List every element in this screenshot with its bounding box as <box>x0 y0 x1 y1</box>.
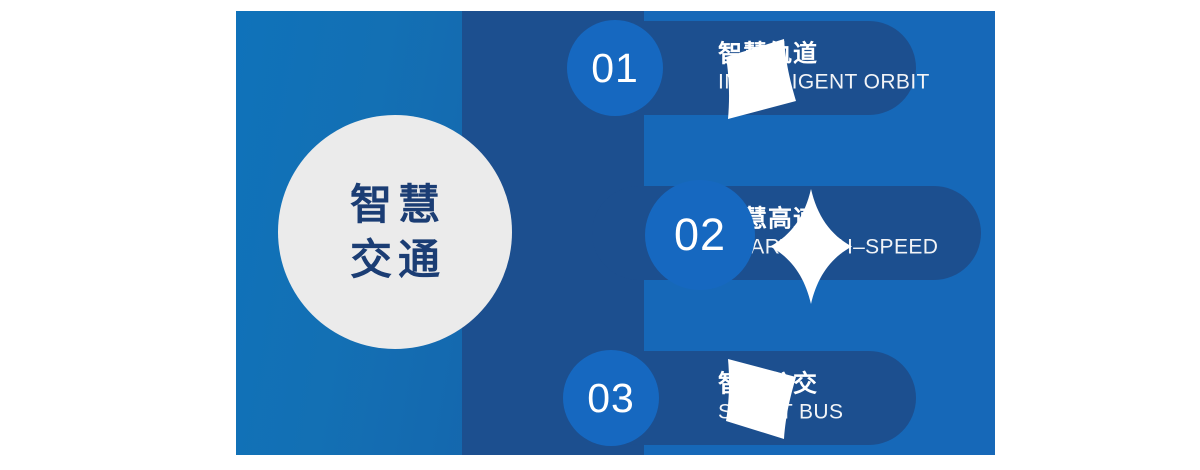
core-circle: 智慧 交通 <box>278 115 512 349</box>
row-title-01: 智慧轨道 <box>718 40 930 68</box>
row-title-03: 智慧公交 <box>718 370 843 398</box>
number-badge-01[interactable]: 01 <box>567 20 663 116</box>
row-text-03: 智慧公交 SMART BUS <box>718 370 843 425</box>
infographic-canvas: 智慧轨道 INTELLIGENT ORBIT 智慧高速 SMART HIGH–S… <box>0 0 1200 470</box>
number-badge-03[interactable]: 03 <box>563 350 659 446</box>
row-text-01: 智慧轨道 INTELLIGENT ORBIT <box>718 40 930 95</box>
core-title-line-2: 交通 <box>344 232 446 287</box>
number-badge-02[interactable]: 02 <box>645 180 755 290</box>
row-subtitle-01: INTELLIGENT ORBIT <box>718 71 930 96</box>
row-subtitle-03: SMART BUS <box>718 401 843 426</box>
core-title-line-1: 智慧 <box>344 177 446 232</box>
